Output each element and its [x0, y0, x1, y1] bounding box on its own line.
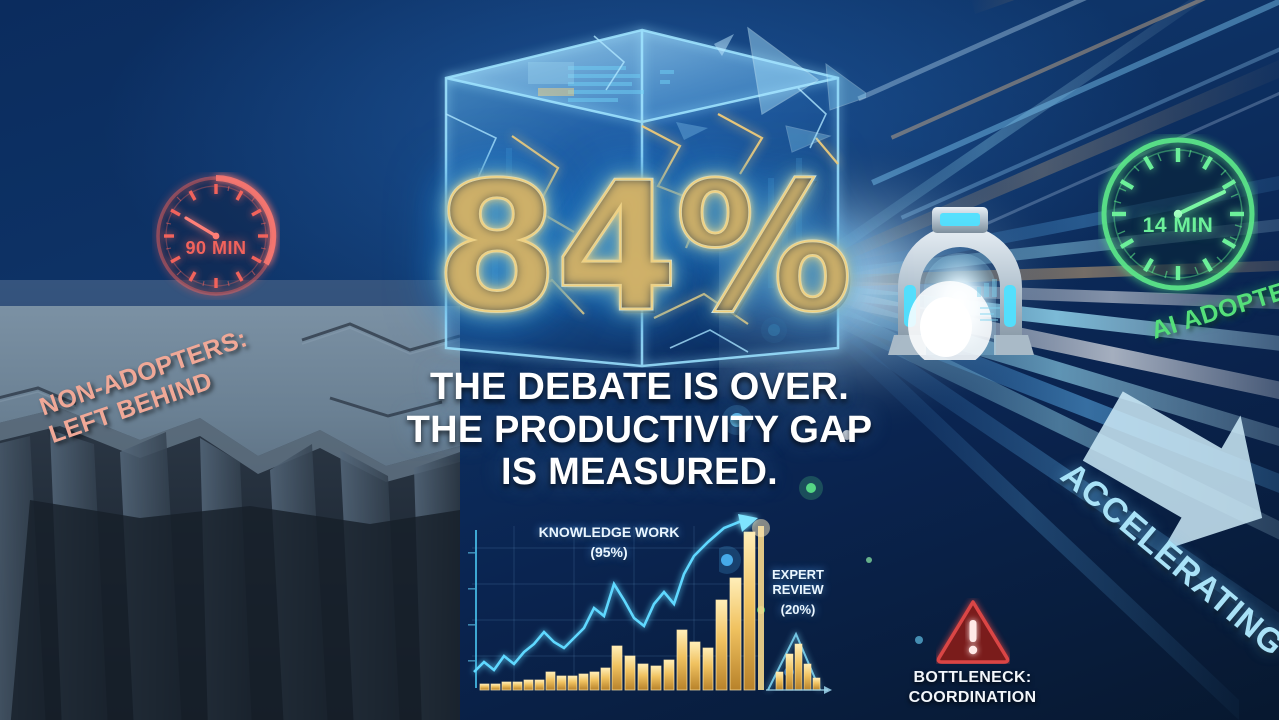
chart-secondary-expert-review: [766, 634, 832, 694]
bottleneck-warning-line-2: COORDINATION: [880, 688, 1065, 708]
clock-icon: [152, 172, 280, 300]
chart-series-secondary-value: (20%): [750, 602, 846, 617]
clock-14-min: 14 MIN: [1098, 134, 1258, 294]
clock-14-min-label: 14 MIN: [1098, 214, 1258, 238]
hero-stat: 84% 84%: [418, 140, 866, 355]
clock-90-min: 90 MIN: [152, 172, 280, 300]
warning-triangle-icon: [936, 598, 1010, 664]
productivity-chart: KNOWLEDGE WORK (95%) EXPERT REVIEW (20%): [462, 512, 832, 720]
chart-series-primary-label: KNOWLEDGE WORK: [514, 524, 704, 540]
bottleneck-warning-text: BOTTLENECK: COORDINATION: [880, 668, 1065, 708]
clock-90-min-label: 90 MIN: [152, 238, 280, 259]
chart-series-primary-value: (95%): [514, 544, 704, 560]
portal-gateway-icon: [880, 175, 1080, 360]
hero-stat-value: 84%: [435, 144, 849, 351]
infographic-canvas: 84% 84% THE DEBATE IS OVER. THE PRODUCTI…: [0, 0, 1279, 720]
headline-line-2: THE PRODUCTIVITY GAP: [0, 409, 1279, 452]
chart-series-secondary-label: EXPERT REVIEW: [750, 568, 846, 598]
bottleneck-warning: BOTTLENECK: COORDINATION: [880, 598, 1065, 708]
bottleneck-warning-line-1: BOTTLENECK:: [880, 668, 1065, 688]
